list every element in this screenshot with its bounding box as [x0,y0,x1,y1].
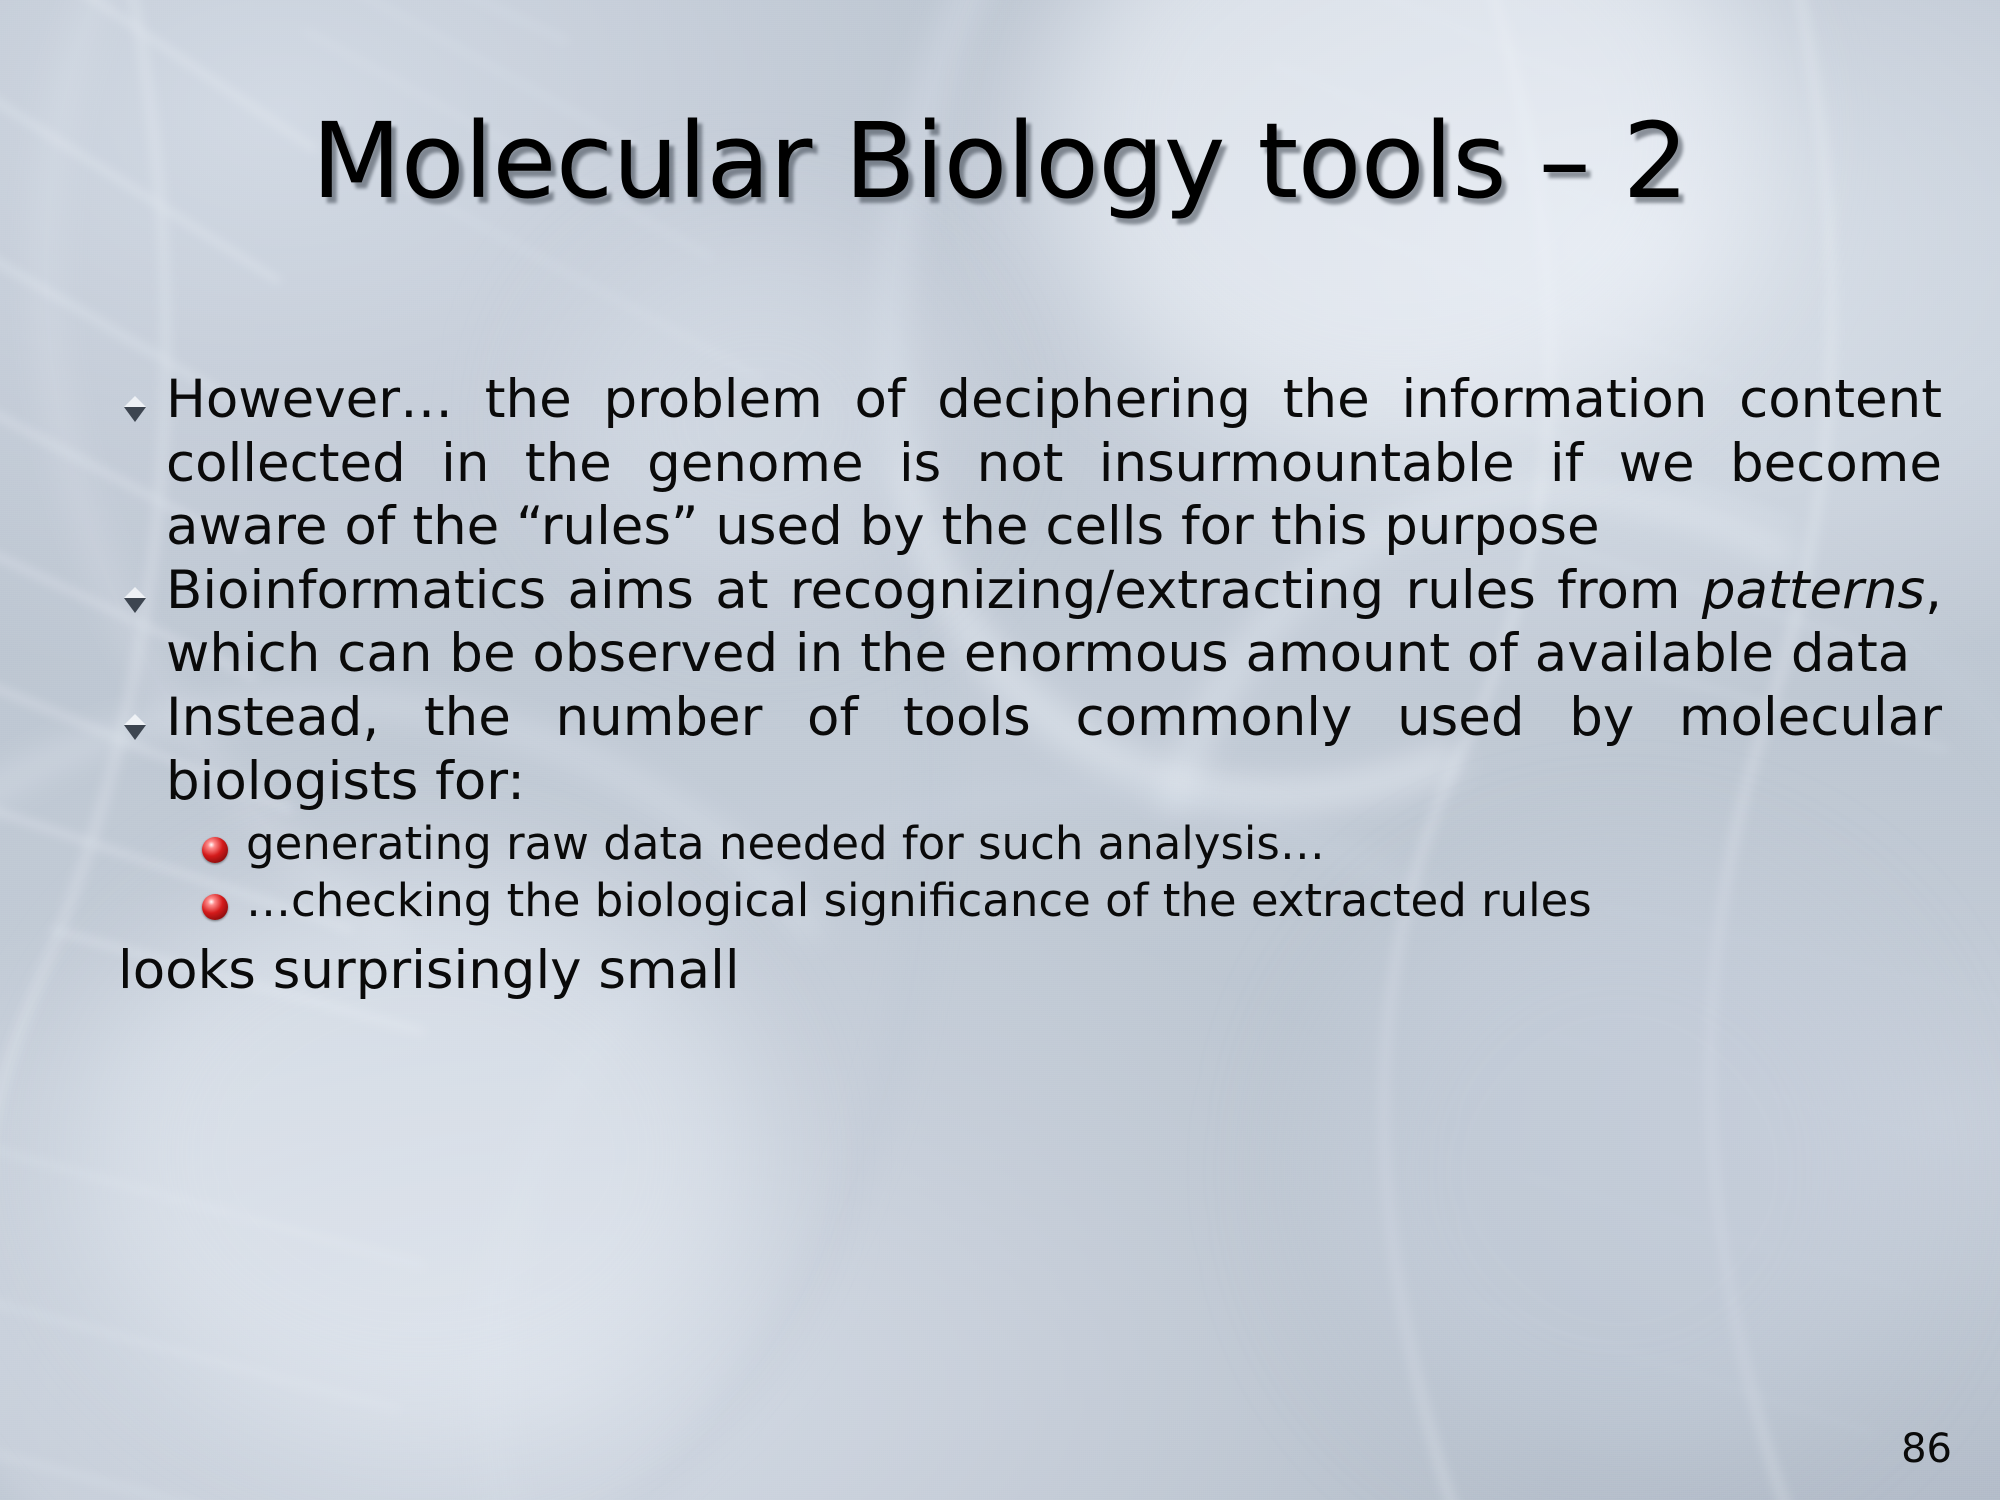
red-sphere-bullet-icon [202,837,228,863]
slide-content: Molecular Biology tools – 2 However… the… [0,0,2000,1500]
page-number: 86 [1901,1426,1952,1472]
sub-bullet-item: generating raw data needed for such anal… [202,817,1942,872]
bullet-text: Instead, the number of tools commonly us… [166,686,1942,813]
sub-bullet-text: generating raw data needed for such anal… [246,817,1942,872]
bullet-text-emphasis: patterns [1702,560,1925,621]
closing-line: looks surprisingly small [118,939,1942,1003]
diamond-arrow-bullet-icon [118,579,152,623]
bullet-text: Bioinformatics aims at recognizing/extra… [166,559,1942,686]
slide-title: Molecular Biology tools – 2 [0,108,2000,214]
sub-bullet-text: …checking the biological significance of… [246,874,1942,929]
bullet-item: However… the problem of deciphering the … [118,368,1942,559]
sub-bullet-item: …checking the biological significance of… [202,874,1942,929]
bullet-text-part-before: Bioinformatics aims at recognizing/extra… [166,560,1702,621]
presentation-slide: Molecular Biology tools – 2 However… the… [0,0,2000,1500]
bullet-item: Instead, the number of tools commonly us… [118,686,1942,813]
slide-body: However… the problem of deciphering the … [118,368,1942,1003]
red-sphere-bullet-icon [202,894,228,920]
sub-bullet-list: generating raw data needed for such anal… [202,817,1942,929]
bullet-text: However… the problem of deciphering the … [166,368,1942,559]
diamond-arrow-bullet-icon [118,388,152,432]
bullet-item: Bioinformatics aims at recognizing/extra… [118,559,1942,686]
diamond-arrow-bullet-icon [118,706,152,750]
